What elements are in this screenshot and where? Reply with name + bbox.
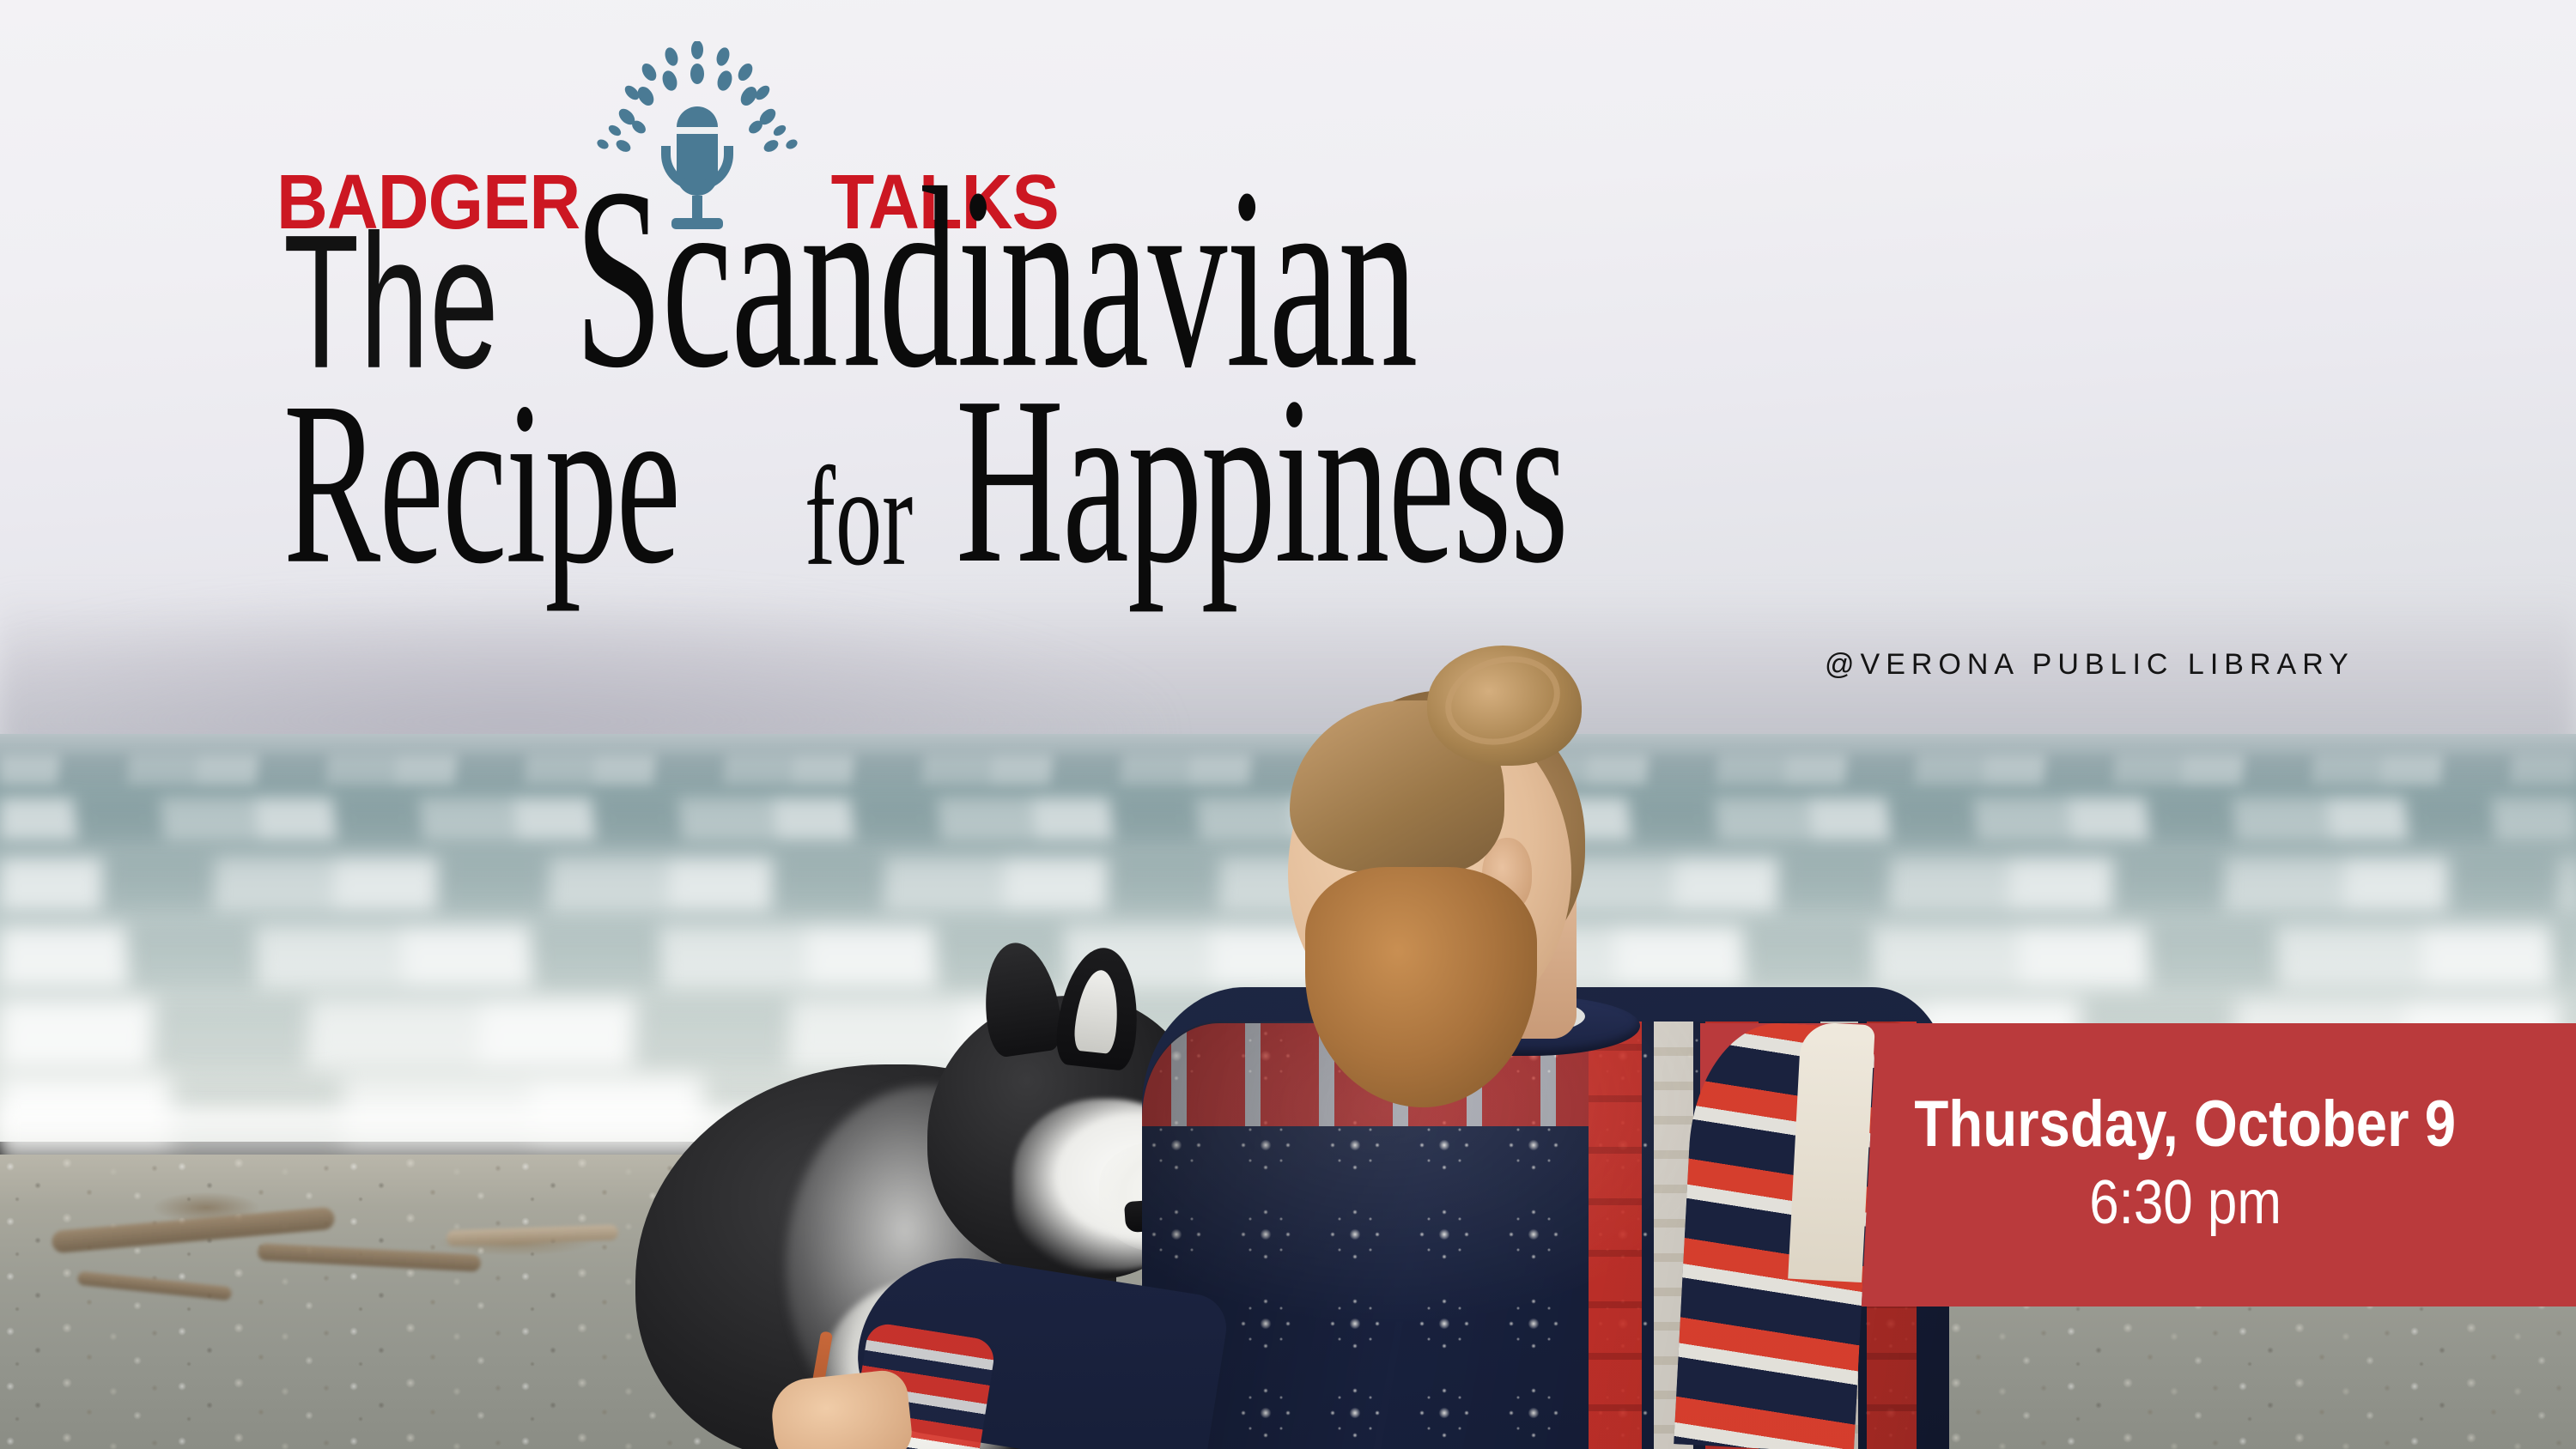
venue-tagline: @VERONA PUBLIC LIBRARY (1825, 648, 2354, 682)
event-poster: BADGER TALKS The Scandinavian Recipe for… (0, 0, 2576, 1449)
title-word-for: for (805, 452, 913, 582)
title-word-recipe: Recipe (283, 376, 679, 591)
distant-hill-left (0, 601, 1159, 755)
title-word-happiness: Happiness (956, 372, 1567, 592)
event-date: Thursday, October 9 (1915, 1090, 2457, 1159)
event-time: 6:30 pm (2089, 1166, 2281, 1240)
title-line-2: Recipe for Happiness (283, 420, 2370, 592)
page-title: The Scandinavian Recipe for Happiness (283, 215, 2370, 592)
sweater-sleeve-cream-band (1788, 1022, 1875, 1282)
